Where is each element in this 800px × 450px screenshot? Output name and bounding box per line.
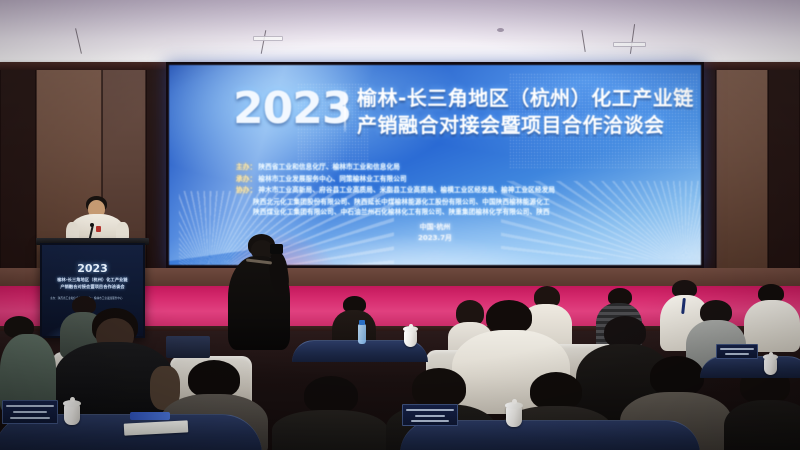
organizer-value: 陕西省工业和信息化厅、榆林市工业和信息化局 — [258, 161, 400, 171]
conference-photo: 2023 榆林-长三角地区（杭州）化工产业链 产销融合对接会暨项目合作洽谈会 主… — [0, 0, 800, 450]
organizer-value: 榆林市工业发展服务中心、同策榆林业工有限公司 — [258, 173, 406, 183]
sponsor-line-2: 陕西煤业化工集团有限公司、中石油兰州石化榆林化工有限公司、陕重集团榆林化学有限公… — [253, 206, 656, 216]
banner-title-line-1: 榆林-长三角地区（杭州）化工产业链 — [357, 85, 687, 112]
name-card-line — [406, 409, 454, 411]
name-card-line — [415, 415, 445, 417]
wall-panel-right-gap — [702, 70, 716, 270]
banner-divider — [344, 90, 346, 132]
audience-hair — [530, 372, 582, 410]
audience-member-front — [724, 366, 800, 450]
organizer-row: 承办： 榆林市工业发展服务中心、同策榆林业工有限公司 — [236, 173, 656, 183]
teacup — [764, 358, 777, 375]
audience-hair — [188, 360, 240, 398]
ceiling-spot-icon — [497, 28, 504, 32]
teacup-knob — [409, 324, 413, 328]
pen-set — [130, 412, 170, 420]
organizer-value: 神木市工业高新局、府谷县工业高质局、米脂县工业高质局、榆横工业区经发局、榆神工业… — [258, 184, 555, 194]
banner-organizers: 主办： 陕西省工业和信息化厅、榆林市工业和信息化局 承办： 榆林市工业发展服务中… — [236, 161, 656, 216]
table-name-card — [716, 344, 758, 359]
microphone-head-icon — [90, 223, 94, 227]
banner-year: 2023 — [233, 87, 351, 131]
teacup — [404, 330, 417, 347]
banner-place: 中国·杭州 — [169, 222, 701, 233]
wall-panel-left-gap — [146, 70, 168, 270]
podium-year: 2023 — [42, 262, 143, 275]
ceiling-fixture — [613, 42, 646, 47]
audience-hair — [304, 376, 358, 414]
organizer-row: 协办： 神木市工业高新局、府谷县工业高质局、米脂县工业高质局、榆横工业区经发局、… — [236, 184, 656, 194]
laptop-screen — [166, 336, 210, 358]
sponsor-line-1: 陕西北元化工集团股份有限公司、陕西延长中煤榆林能源化工股份有限公司、中国陕西榆林… — [253, 196, 656, 206]
wall-panel-right-dark — [768, 70, 800, 270]
wall-panel-left-dark — [0, 70, 36, 270]
audience-member — [744, 284, 800, 350]
ceiling-fixture — [253, 36, 283, 41]
name-card-line — [411, 420, 449, 422]
table-name-card — [2, 400, 58, 424]
audience-hair — [412, 368, 466, 408]
name-card-line — [6, 405, 54, 407]
teacup — [64, 404, 80, 425]
teacup-knob — [70, 397, 75, 402]
bottle-cap — [359, 320, 365, 325]
water-bottle — [358, 324, 366, 344]
teacup-knob — [769, 352, 773, 356]
audience-member-front — [272, 376, 388, 450]
organizer-key: 主办： — [236, 161, 256, 171]
teacup-knob — [512, 399, 517, 404]
podium-title-line-2: 产销融合对接会暨项目合作洽谈会 — [48, 284, 137, 291]
teacup — [506, 406, 522, 427]
audience-torso — [724, 400, 800, 450]
photographer — [226, 234, 292, 350]
organizer-key: 承办： — [236, 173, 256, 183]
banner-title: 榆林-长三角地区（杭州）化工产业链 产销融合对接会暨项目合作洽谈会 — [357, 85, 687, 139]
ceiling-light-glow — [0, 26, 800, 62]
name-card-line — [725, 353, 749, 355]
name-card-line — [10, 417, 50, 419]
audience-member — [0, 316, 56, 412]
audience-torso — [272, 410, 388, 450]
camera-icon — [270, 244, 283, 254]
podium-title-line-1: 榆林-长三角地区（杭州）化工产业链 — [48, 277, 137, 284]
wall-panel-right — [716, 70, 768, 270]
name-card-line — [720, 348, 754, 350]
table-name-card — [402, 404, 458, 426]
podium-title: 榆林-长三角地区（杭州）化工产业链 产销融合对接会暨项目合作洽谈会 — [48, 277, 137, 290]
organizer-key: 协办： — [236, 184, 256, 194]
audience-hair — [486, 300, 532, 334]
round-table-far-right — [700, 356, 800, 378]
banner-title-line-2: 产销融合对接会暨项目合作洽谈会 — [357, 112, 687, 139]
audience-hair — [650, 356, 704, 396]
name-card-line — [13, 411, 47, 413]
speaker-badge — [96, 226, 101, 232]
organizer-row: 主办： 陕西省工业和信息化厅、榆林市工业和信息化局 — [236, 161, 656, 171]
